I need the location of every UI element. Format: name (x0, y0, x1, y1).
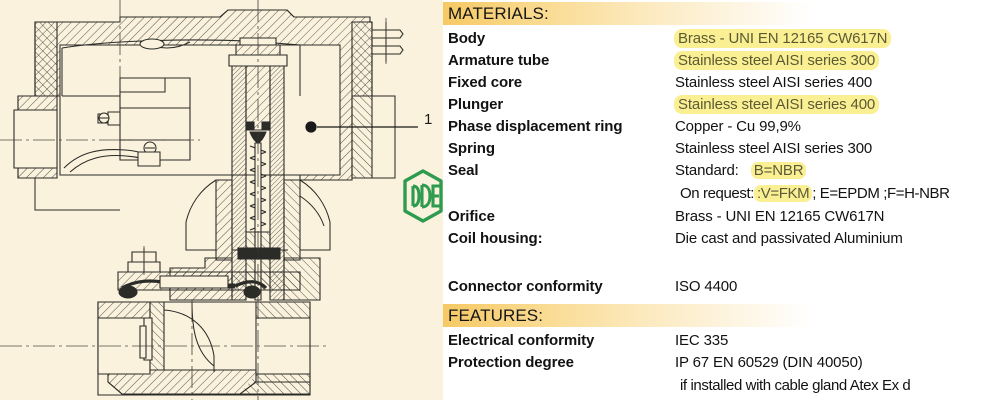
features-header-label: FEATURES: (443, 306, 543, 326)
valve-section-drawing: 1 (0, 0, 443, 400)
spec-label: Seal (443, 162, 675, 179)
ode-logo (400, 168, 443, 224)
spec-label: Armature tube (443, 52, 675, 69)
spec-label: Electrical conformity (443, 332, 675, 349)
spec-row-fixed-core: Fixed core Stainless steel AISI series 4… (443, 74, 872, 95)
spec-label: Orifice (443, 208, 675, 225)
spec-row-seal: Seal Standard: B=NBR (443, 162, 806, 183)
spec-value: Stainless steel AISI series 400 (675, 74, 872, 91)
spec-value: Copper - Cu 99,9% (675, 118, 801, 135)
spec-row-electrical-conformity: Electrical conformity IEC 335 (443, 332, 728, 353)
spec-row-plunger: Plunger Stainless steel AISI series 400 (443, 96, 878, 117)
datasheet-page: 1 MATERIALS: Body Brass - UNI EN 12165 (0, 0, 1000, 400)
seal-request-rest: ; E=EPDM ;F=H-NBR (812, 185, 949, 202)
spec-row-spring: Spring Stainless steel AISI series 300 (443, 140, 872, 161)
materials-section-header: MATERIALS: (443, 2, 843, 25)
spec-label: Fixed core (443, 74, 675, 91)
spec-label: Coil housing: (443, 230, 675, 247)
spec-value: Die cast and passivated Aluminium (675, 230, 903, 247)
spec-value: Brass - UNI EN 12165 CW617N (675, 208, 884, 225)
spec-label: Body (443, 30, 675, 47)
spec-value: Stainless steel AISI series 300 (675, 52, 878, 69)
spec-value-seal-on-request: On request::V=FKM; E=EPDM ;F=H-NBR (680, 185, 950, 202)
spec-label: Connector conformity (443, 278, 675, 295)
spec-label: Phase displacement ring (443, 118, 675, 135)
spec-value: ISO 4400 (675, 278, 737, 295)
spec-value-protection-note: if installed with cable gland Atex Ex d (680, 377, 910, 394)
spec-row-connector-conformity: Connector conformity ISO 4400 (443, 278, 737, 299)
spec-label: Spring (443, 140, 675, 157)
materials-header-label: MATERIALS: (443, 4, 549, 24)
spec-value-seal-standard: Standard: B=NBR (675, 162, 806, 179)
spec-label: Plunger (443, 96, 675, 113)
features-section-header: FEATURES: (443, 304, 843, 327)
spec-value: IP 67 EN 60529 (DIN 40050) (675, 354, 863, 371)
specification-panel: MATERIALS: Body Brass - UNI EN 12165 CW6… (443, 0, 1000, 400)
spec-row-armature-tube: Armature tube Stainless steel AISI serie… (443, 52, 878, 73)
spec-value: Stainless steel AISI series 400 (675, 96, 878, 113)
seal-standard-prefix: Standard: (675, 162, 739, 179)
spec-row-orifice: Orifice Brass - UNI EN 12165 CW617N (443, 208, 884, 229)
seal-request-chip: :V=FKM (754, 185, 812, 202)
spec-row-coil-housing: Coil housing: Die cast and passivated Al… (443, 230, 903, 251)
solenoid-valve-cross-section-svg (0, 0, 443, 400)
callout-number-1: 1 (424, 111, 432, 128)
spec-value: Stainless steel AISI series 300 (675, 140, 872, 157)
seal-standard-chip: B=NBR (751, 162, 807, 179)
spec-row-phase-displacement-ring: Phase displacement ring Copper - Cu 99,9… (443, 118, 801, 139)
spec-row-body: Body Brass - UNI EN 12165 CW617N (443, 30, 890, 51)
spec-label: Protection degree (443, 354, 675, 371)
spec-value: Brass - UNI EN 12165 CW617N (675, 30, 890, 47)
spec-value: IEC 335 (675, 332, 728, 349)
spec-row-protection-degree: Protection degree IP 67 EN 60529 (DIN 40… (443, 354, 863, 375)
seal-request-prefix: On request: (680, 185, 754, 202)
